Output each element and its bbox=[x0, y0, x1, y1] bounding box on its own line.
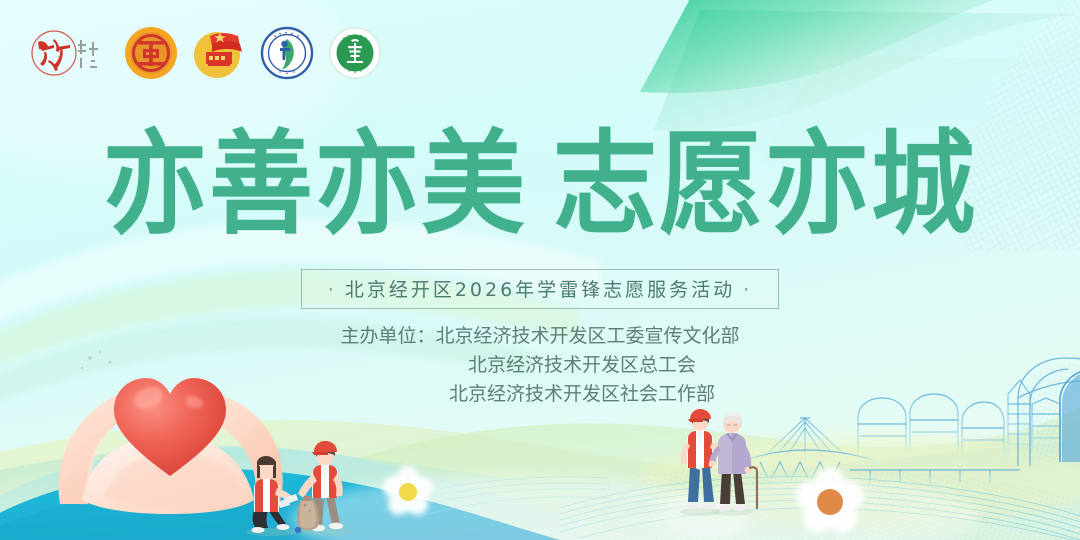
volunteer-child bbox=[252, 456, 295, 533]
volunteers-cleanup-scene bbox=[228, 438, 360, 538]
main-title-part2: 志愿亦城 bbox=[553, 118, 977, 250]
elderly-person bbox=[709, 412, 752, 511]
subtitle-wrapper: ·北京经开区2026年学雷锋志愿服务活动· bbox=[0, 269, 1080, 309]
communist-youth-league-logo bbox=[192, 26, 246, 80]
organizer-block: 主办单位：北京经济技术开发区工委宣传文化部 北京经济技术开发区总工会 北京经济技… bbox=[0, 322, 1080, 409]
subtitle-dot-right: · bbox=[735, 279, 760, 301]
trade-union-logo bbox=[124, 26, 178, 80]
organizer-line-1: 主办单位：北京经济技术开发区工委宣传文化部 bbox=[0, 322, 1080, 351]
subtitle-dot-left: · bbox=[320, 279, 345, 301]
organizer-line-2: 北京经济技术开发区总工会 bbox=[0, 351, 1080, 380]
main-title: 亦善亦美志愿亦城 bbox=[0, 128, 1080, 240]
volunteer-helping-elderly-scene bbox=[668, 408, 764, 520]
subtitle-box: ·北京经开区2026年学雷锋志愿服务活动· bbox=[301, 269, 779, 309]
volunteer-service-logo bbox=[260, 26, 314, 80]
walking-cane bbox=[750, 467, 757, 508]
flower-center-orange bbox=[817, 489, 843, 515]
litter-ball bbox=[295, 527, 301, 533]
flower-center-yellow bbox=[399, 483, 417, 501]
main-title-part1: 亦善亦美 bbox=[103, 118, 527, 250]
civilization-office-logo bbox=[328, 26, 382, 80]
poster-canvas: 亦善亦美志愿亦城 ·北京经开区2026年学雷锋志愿服务活动· 主办单位：北京经济… bbox=[0, 0, 1080, 540]
organizer-line-3: 北京经济技术开发区社会工作部 bbox=[0, 380, 1080, 409]
subtitle-text: 北京经开区2026年学雷锋志愿服务活动 bbox=[345, 279, 735, 301]
logo-row bbox=[24, 26, 382, 80]
xin-shi-dai-calligraphy-logo bbox=[24, 26, 110, 80]
